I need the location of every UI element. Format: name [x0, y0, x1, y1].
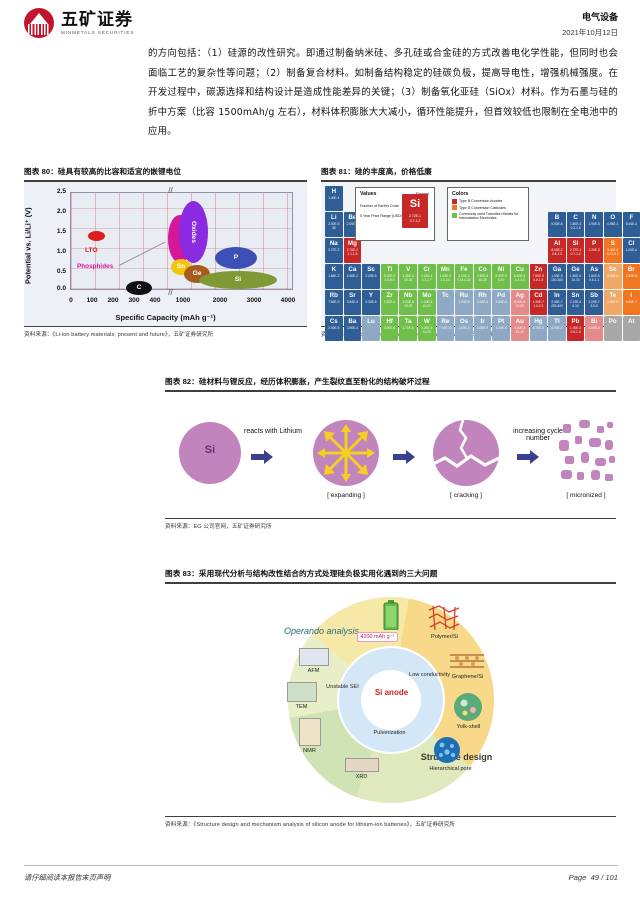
element-fraction: 6.00E-7 [548, 326, 566, 330]
axis-break-icon: // [168, 288, 172, 297]
element-symbol: Rh [474, 290, 492, 300]
element-symbol: S [604, 238, 622, 248]
structure-hierarchical-pore: Hierarchical pore [423, 766, 479, 773]
divider [24, 865, 618, 866]
element-cell-ru: Ru1.00E-9 [455, 290, 473, 315]
data-point-p: P [215, 247, 257, 269]
page-label: Page [569, 873, 587, 882]
periodic-table-chart: H1.40E-4HeLi2.00E-538Be2.00E-6B9.50E-6C1… [321, 182, 616, 326]
element-cell-ge: Ge1.50E-610-30 [567, 264, 585, 289]
element-cell-as: As1.80E-60.5-1.1 [585, 264, 603, 289]
element-symbol: Tc [437, 290, 455, 300]
element-price: 10-25 [399, 278, 417, 282]
element-price: 0.7-1.2 [567, 252, 585, 256]
element-price: 10-25 [418, 330, 436, 334]
element-cell-br: Br2.50E-6 [623, 264, 640, 289]
element-symbol: Lu [362, 316, 380, 326]
element-cell-cd: Cd1.50E-71.0-2.2 [530, 290, 548, 315]
element-symbol: In [548, 290, 566, 300]
element-symbol: Cu [511, 264, 529, 274]
element-price: 10-25 [511, 304, 529, 308]
element-price: 3.5-8 [585, 304, 603, 308]
y-tick: 2.5 [40, 188, 66, 195]
element-cell-sr: Sr3.84E-4 [344, 290, 362, 315]
element-cell-h: H1.40E-4 [325, 186, 343, 211]
element-cell-pb: Pb1.30E-50.8-1.3 [567, 316, 585, 341]
element-price: 6-10 [567, 304, 585, 308]
element-price: 100-300 [548, 278, 566, 282]
element-price: 6-10 [492, 278, 510, 282]
brand-logo: 五矿证券 MINMETALS SECURITIES [24, 8, 618, 38]
element-symbol: H [325, 186, 343, 196]
element-cell-po: Po [604, 316, 622, 341]
yolk-shell-icon [453, 692, 483, 722]
colors-legend: Colors Type B Conversion Anodes Type B C… [447, 187, 529, 241]
arrow-right-icon [251, 450, 273, 464]
element-cell-si: Si2.72E-10.7-1.2 [567, 238, 585, 263]
x-tick: 100 [86, 297, 97, 304]
element-price: 1.0-2.2 [530, 304, 548, 308]
element-symbol: Pt [492, 316, 510, 326]
element-cell-os: Os1.00E-9 [455, 316, 473, 341]
element-cell-cu: Cu6.80E-51.4-4.5 [511, 264, 529, 289]
periodic-table-row: K1.84E-2Ca4.66E-2Sc2.20E-5Ti6.32E-34.0-5… [325, 264, 612, 289]
element-symbol: Re [437, 316, 455, 326]
element-cell-li: Li2.00E-538 [325, 212, 343, 237]
legend-item: Type B Conversion Cathodes [452, 205, 524, 210]
element-fraction: 3.84E-4 [344, 300, 362, 304]
polymer-network-icon [427, 604, 461, 632]
element-cell-tl: Tl6.00E-7 [548, 316, 566, 341]
element-fraction: 1.84E-2 [325, 274, 343, 278]
technique-nmr: NMR [297, 748, 323, 755]
element-cell-sb: Sb2.00E-73.5-8 [585, 290, 603, 315]
capacity-badge: 4200 mAh g⁻¹ [357, 632, 399, 642]
element-cell-fe: Fe6.20E-20.14-0.26 [455, 264, 473, 289]
element-symbol: Sn [567, 290, 585, 300]
data-point-c: C [126, 281, 152, 295]
structure-polymer-si: Polymer/Si [423, 634, 467, 641]
element-symbol: Rb [325, 290, 343, 300]
reacts-with-lithium-caption: reacts with Lithium [241, 428, 305, 435]
element-cell-bi: Bi4.80E-8 [585, 316, 603, 341]
element-symbol: V [399, 264, 417, 274]
element-price: 0.8-1.3 [548, 252, 566, 256]
element-price: 0.5-1.1 [585, 278, 603, 282]
element-fraction: 3.90E-4 [344, 326, 362, 330]
element-symbol: Ta [399, 316, 417, 326]
periodic-table-row: Rb7.80E-5Sr3.84E-4Y3.30E-5Zr1.62E-4Nb2.0… [325, 290, 612, 315]
element-cell-mn: Mn1.06E-31.4-2.0 [437, 264, 455, 289]
element-symbol: K [325, 264, 343, 274]
element-fraction: 1.00E-9 [474, 326, 492, 330]
page-header: 五矿证券 MINMETALS SECURITIES 电气设备 2021年10月1… [0, 0, 640, 48]
element-symbol: O [604, 212, 622, 222]
hierarchical-pore-icon [433, 736, 461, 764]
x-tick: 3000 [247, 297, 262, 304]
element-symbol: Cd [530, 290, 548, 300]
report-date: 2021年10月12日 [562, 27, 618, 38]
exhibit-80: 图表 80：硅具有较高的比容和适宜的嵌锂电位 Potential vs. Li/… [24, 166, 307, 338]
page-footer: 请仔细阅读本报告末页声明 Page 49 / 101 [24, 865, 618, 883]
element-cell-mg: Mg2.76E-21.1-1.8 [344, 238, 362, 263]
exhibit-82-body: Si reacts with Lithium [ expanding ] [165, 392, 616, 518]
element-symbol: Cl [623, 238, 640, 248]
element-fraction: 1.00E-9 [604, 300, 622, 304]
element-fraction: 2.27E-2 [325, 248, 343, 252]
element-price: 1.4-4.5 [511, 278, 529, 282]
element-symbol: Fe [455, 264, 473, 274]
element-price: 38 [325, 226, 343, 230]
data-label-phosphides: Phosphides [77, 263, 113, 270]
exhibit-83-body: Operando analysis Structure design 4200 … [165, 584, 616, 816]
exhibit-80-body: Potential vs. Li/Li⁺ (V) 2.5 2.0 1.5 1.0… [24, 182, 307, 326]
element-price: 4.0-5.0 [381, 278, 399, 282]
element-symbol: Au [511, 316, 529, 326]
element-symbol: Te [604, 290, 622, 300]
element-symbol: Y [362, 290, 380, 300]
afm-thumbnail [299, 648, 329, 666]
element-fraction: 4.66E-2 [344, 274, 362, 278]
element-fraction: 2.20E-5 [362, 274, 380, 278]
element-symbol: Ga [548, 264, 566, 274]
element-cell-o: O4.55E-1 [604, 212, 622, 237]
element-cell-b: B9.50E-6 [548, 212, 566, 237]
element-cell-re: Re7.00E-10 [437, 316, 455, 341]
element-cell-lu: Lu [362, 316, 380, 341]
element-fraction: 1.62E-4 [381, 300, 399, 304]
element-fraction: 3.30E-5 [362, 300, 380, 304]
exhibit-82-title: 图表 82：硅材料与锂反应，经历体积膨胀，产生裂纹直至粉化的结构破坏过程 [165, 376, 616, 387]
element-symbol: F [623, 212, 640, 222]
stage-label-expanding: [ expanding ] [313, 492, 379, 499]
element-cell-n: N1.90E-5 [585, 212, 603, 237]
crack-pattern-icon [433, 420, 499, 486]
minmetals-logo-icon [24, 8, 54, 38]
element-cell-zn: Zn7.60E-50.6-1.5 [530, 264, 548, 289]
element-fraction: 4.80E-8 [585, 326, 603, 330]
element-price: 0.07-0.2 [604, 252, 622, 256]
element-symbol: P [585, 238, 603, 248]
si-anode-strategy-diagram: Operando analysis Structure design 4200 … [165, 584, 616, 816]
element-symbol: Cr [418, 264, 436, 274]
legend-swatch-icon [452, 199, 457, 204]
graphene-layers-icon [449, 650, 485, 672]
si-anode-center-label: Si anode [373, 688, 411, 697]
element-symbol: Zn [530, 264, 548, 274]
element-fraction: 7.80E-5 [325, 300, 343, 304]
element-symbol: N [585, 212, 603, 222]
y-tick: 2.0 [40, 208, 66, 215]
si-sample-card: Si 2.72E-1 0.7-1.2 [402, 194, 428, 228]
x-tick: 0 [69, 297, 73, 304]
exhibit-82: 图表 82：硅材料与锂反应，经历体积膨胀，产生裂纹直至粉化的结构破坏过程 Si … [165, 376, 616, 530]
element-symbol: Al [548, 238, 566, 248]
element-price: 1.4-2.0 [437, 278, 455, 282]
element-price: 0.14-0.26 [455, 278, 473, 282]
periodic-table-row: Na2.27E-2Mg2.76E-21.1-1.8Al8.00E-20.8-1.… [325, 238, 612, 263]
plot-area: // // LTO Phosphides Oxides P Sn Ge Si C [70, 192, 293, 290]
center-white-disc [361, 670, 421, 730]
element-cell-hf: Hf3.00E-6 [381, 316, 399, 341]
element-price: 0.2-1.5 [567, 226, 585, 230]
legend-label: Type B Conversion Anodes [459, 199, 502, 203]
periodic-table-row: Cs3.00E-6Ba3.90E-4LuHf3.00E-6Ta1.70E-6W1… [325, 316, 612, 341]
element-cell-at: At [623, 316, 640, 341]
element-symbol: Se [604, 264, 622, 274]
legend-label: Type B Conversion Cathodes [459, 206, 506, 210]
element-symbol: Na [325, 238, 343, 248]
problem-unstable-sei: Unstable SEI [325, 684, 361, 691]
element-cell-mo: Mo1.20E-610-30 [418, 290, 436, 315]
element-cell-rb: Rb7.80E-5 [325, 290, 343, 315]
element-price: 10-30 [567, 278, 585, 282]
values-legend: Values Element Fraction of Earth's Crust… [355, 187, 435, 241]
element-symbol: Hf [381, 316, 399, 326]
legend-item: Type B Conversion Anodes [452, 199, 524, 204]
element-fraction: 2.50E-6 [623, 274, 640, 278]
sector-title: 电气设备 [562, 10, 618, 23]
element-fraction: 1.50E-8 [492, 300, 510, 304]
technique-afm: AFM [299, 668, 329, 675]
axis-break-icon: // [168, 186, 172, 195]
xrd-thumbnail [345, 758, 379, 772]
data-label-lto: LTO [85, 247, 98, 254]
exhibit-83: 图表 83：采用现代分析与结构改性结合的方式处理硅负极实用化遇到的三大问题 Op… [165, 568, 616, 828]
element-cell-co: Co2.90E-510-25 [474, 264, 492, 289]
y-tick: 0.5 [40, 268, 66, 275]
element-cell-i: I4.60E-7 [623, 290, 640, 315]
element-cell-c: C1.80E-40.2-1.5 [567, 212, 585, 237]
element-symbol: Si [567, 238, 585, 248]
legend-item: Commonly used Transition Metals for Inte… [452, 212, 524, 220]
element-symbol: Sr [344, 290, 362, 300]
leader-line [119, 241, 166, 265]
element-cell-na: Na2.27E-2 [325, 238, 343, 263]
element-fraction: 3.00E-6 [325, 326, 343, 330]
element-price: 1.1-1.8 [344, 252, 362, 256]
element-fraction: 5.00E-8 [604, 274, 622, 278]
problem-pulverization: Pulverization [361, 730, 419, 737]
element-cell-ag: Ag8.00E-810-25 [511, 290, 529, 315]
element-symbol: Pd [492, 290, 510, 300]
element-symbol: I [623, 290, 640, 300]
element-symbol: Ag [511, 290, 529, 300]
data-point-si: Si [199, 271, 277, 289]
legend-swatch-icon [452, 213, 457, 218]
element-symbol: Sb [585, 290, 603, 300]
x-tick: 1000 [176, 297, 191, 304]
x-axis-label: Specific Capacity (mAh g⁻¹) [24, 313, 307, 322]
element-price: 1.1-1.7 [418, 278, 436, 282]
element-symbol: Ru [455, 290, 473, 300]
element-fraction: 5.44E-4 [623, 222, 640, 226]
element-fraction: 3.00E-6 [381, 326, 399, 330]
element-symbol: Mo [418, 290, 436, 300]
element-cell-ni: Ni9.90E-56-10 [492, 264, 510, 289]
element-symbol: W [418, 316, 436, 326]
element-price: 10-25 [474, 278, 492, 282]
element-symbol: Co [474, 264, 492, 274]
element-price: 0.8-1.3 [567, 330, 585, 334]
brand-name-cn: 五矿证券 [61, 11, 134, 29]
element-symbol: Li [325, 212, 343, 222]
element-cell-sn: Sn2.10E-66-10 [567, 290, 585, 315]
element-price: 10-30 [418, 304, 436, 308]
element-cell-au: Au4.00E-918-25 [511, 316, 529, 341]
technique-xrd: XRD [345, 774, 379, 781]
exhibit-83-source: 资料来源：《Structure design and mechanism ana… [165, 817, 616, 828]
si-label: Si [179, 444, 241, 456]
element-symbol: Sc [362, 264, 380, 274]
technique-tem: TEM [287, 704, 317, 711]
legend-swatch-icon [452, 205, 457, 210]
element-symbol: Mn [437, 264, 455, 274]
element-symbol: Zr [381, 290, 399, 300]
header-meta: 电气设备 2021年10月12日 [562, 10, 618, 38]
element-symbol: Br [623, 264, 640, 274]
micronized-fragments-icon [557, 418, 617, 488]
exhibit-83-title: 图表 83：采用现代分析与结构改性结合的方式处理硅负极实用化遇到的三大问题 [165, 568, 616, 579]
brand-name-en: MINMETALS SECURITIES [61, 30, 134, 35]
footer-disclaimer: 请仔细阅读本报告末页声明 [24, 873, 110, 883]
structure-graphene-si: Graphene/Si [445, 674, 491, 681]
element-fraction: 1.00E-9 [455, 300, 473, 304]
element-cell-zr: Zr1.62E-4 [381, 290, 399, 315]
structure-yolk-shell: Yolk-shell [449, 724, 489, 731]
element-cell-rh: Rh1.00E-9 [474, 290, 492, 315]
element-fraction: 1.26E-4 [623, 248, 640, 252]
element-price: 200-400 [548, 304, 566, 308]
operando-analysis-title: Operando analysis [283, 626, 361, 637]
element-symbol: Ir [474, 316, 492, 326]
element-symbol: Ni [492, 264, 510, 274]
element-cell-se: Se5.00E-8 [604, 264, 622, 289]
element-cell-k: K1.84E-2 [325, 264, 343, 289]
exhibit-80-source: 资料来源：《Li-ion battery materials: present … [24, 327, 307, 338]
si-price: 0.7-1.2 [402, 219, 428, 224]
element-fraction: 4.55E-1 [604, 222, 622, 226]
x-tick: 200 [107, 297, 118, 304]
element-symbol: B [548, 212, 566, 222]
x-tick: 300 [128, 297, 139, 304]
exhibit-81: 图表 81：硅的丰度高，价格低廉 H1.40E-4HeLi2.00E-538Be… [321, 166, 616, 338]
element-symbol: Pb [567, 316, 585, 326]
colors-legend-title: Colors [452, 191, 524, 197]
element-cell-cr: Cr1.22E-41.1-1.7 [418, 264, 436, 289]
element-price: 18-25 [511, 330, 529, 334]
tem-thumbnail [287, 682, 317, 702]
element-fraction: 7.00E-10 [437, 326, 455, 330]
element-cell-cs: Cs3.00E-6 [325, 316, 343, 341]
data-point-oxides: Oxides [179, 201, 208, 263]
exhibit-80-title: 图表 80：硅具有较高的比容和适宜的嵌锂电位 [24, 166, 307, 177]
data-point-lto [88, 231, 105, 241]
x-tick: 2000 [213, 297, 228, 304]
element-cell-pt: Pt1.00E-8 [492, 316, 510, 341]
element-fraction: 1.40E-4 [325, 196, 343, 200]
x-tick: 4000 [281, 297, 296, 304]
element-cell-tc: Tc [437, 290, 455, 315]
element-symbol: As [585, 264, 603, 274]
element-cell-ca: Ca4.66E-2 [344, 264, 362, 289]
element-fraction: 6.70E-8 [530, 326, 548, 330]
y-tick: 1.5 [40, 228, 66, 235]
nmr-thumbnail [299, 718, 321, 746]
stage-label-cracking: [ cracking ] [433, 492, 499, 499]
element-cell-in: In2.40E-7200-400 [548, 290, 566, 315]
legend-label: Commonly used Transition Metals for Inte… [459, 212, 524, 220]
element-symbol: Cs [325, 316, 343, 326]
element-cell-pd: Pd1.50E-8 [492, 290, 510, 315]
element-cell-w: W1.20E-610-25 [418, 316, 436, 341]
y-tick: 0.0 [40, 285, 66, 292]
element-symbol: Ti [381, 264, 399, 274]
battery-icon [383, 600, 399, 630]
element-cell-f: F5.44E-4 [623, 212, 640, 237]
page-value: 49 / 101 [591, 873, 618, 882]
scatter-chart: Potential vs. Li/Li⁺ (V) 2.5 2.0 1.5 1.0… [24, 182, 307, 326]
element-cell-nb: Nb2.00E-519-25 [399, 290, 417, 315]
element-cell-ta: Ta1.70E-6 [399, 316, 417, 341]
element-symbol: Bi [585, 316, 603, 326]
x-tick: 400 [149, 297, 160, 304]
element-cell-cl: Cl1.26E-4 [623, 238, 640, 263]
element-fraction: 1.70E-6 [399, 326, 417, 330]
exhibit-82-source: 资料来源：EG 公司官网，五矿证券研究所 [165, 519, 616, 530]
element-cell-y: Y3.30E-5 [362, 290, 380, 315]
element-symbol: At [623, 316, 640, 326]
page-number: Page 49 / 101 [569, 873, 618, 882]
element-fraction: 4.60E-7 [623, 300, 640, 304]
element-symbol: Nb [399, 290, 417, 300]
exhibit-81-title: 图表 81：硅的丰度高，价格低廉 [321, 166, 616, 177]
element-fraction: 1.20E-3 [585, 248, 603, 252]
element-price: 0.6-1.5 [530, 278, 548, 282]
y-axis-label: Potential vs. Li/Li⁺ (V) [22, 196, 34, 296]
element-fraction: 1.00E-9 [455, 326, 473, 330]
body-paragraph: 的方向包括：（1）硅源的改性研究。即通过制备纳米硅、多孔硅或合金硅的方式改善电化… [148, 44, 618, 142]
si-symbol: Si [402, 194, 428, 214]
y-tick: 1.0 [40, 248, 66, 255]
element-cell-ir: Ir1.00E-9 [474, 316, 492, 341]
element-symbol: Ca [344, 264, 362, 274]
element-fraction: 1.00E-9 [474, 300, 492, 304]
expansion-arrows-icon [313, 420, 379, 486]
element-fraction: 1.90E-5 [585, 222, 603, 226]
element-cell-al: Al8.00E-20.8-1.3 [548, 238, 566, 263]
element-cell-ga: Ga1.90E-5100-300 [548, 264, 566, 289]
element-symbol: Ge [567, 264, 585, 274]
element-symbol: C [567, 212, 585, 222]
element-symbol: Po [604, 316, 622, 326]
element-fraction: 1.00E-8 [492, 326, 510, 330]
periodic-table-gap [362, 238, 547, 263]
element-cell-s: S3.40E-40.07-0.2 [604, 238, 622, 263]
element-cell-hg: Hg6.70E-8 [530, 316, 548, 341]
arrow-right-icon [517, 450, 539, 464]
element-symbol: Os [455, 316, 473, 326]
element-cell-p: P1.20E-3 [585, 238, 603, 263]
arrow-right-icon [393, 450, 415, 464]
stage-label-micronized: [ micronized ] [551, 492, 621, 499]
element-symbol: Hg [530, 316, 548, 326]
element-symbol: Tl [548, 316, 566, 326]
exhibit-81-body: H1.40E-4HeLi2.00E-538Be2.00E-6B9.50E-6C1… [321, 182, 616, 326]
element-fraction: 9.50E-6 [548, 222, 566, 226]
element-cell-ti: Ti6.32E-34.0-5.0 [381, 264, 399, 289]
element-price: 19-25 [399, 304, 417, 308]
